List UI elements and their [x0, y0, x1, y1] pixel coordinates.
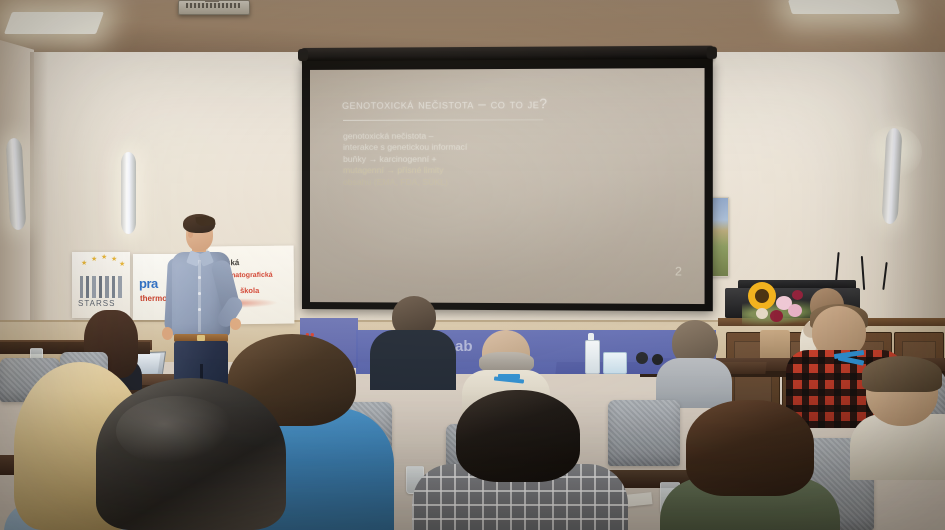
presenter-right-hand: [230, 318, 241, 330]
star-icon-4: ★: [111, 256, 117, 263]
presenter-shirt-button-3: [198, 308, 201, 311]
attendee-fg-dark-hair-highlight: [116, 396, 236, 466]
attendee-fg-far-right-hair: [862, 356, 942, 392]
attendee-fg-olive: [660, 400, 840, 530]
projection-screen: Genotoxická nečistota – co to je? genoto…: [301, 46, 714, 321]
projector-vents: [186, 3, 240, 8]
slide-surface: Genotoxická nečistota – co to je? genoto…: [310, 68, 705, 304]
bloom-burgundy-1: [770, 310, 783, 322]
presenter-shirt-button-2: [198, 292, 201, 295]
tissue-box: [603, 352, 627, 374]
microphone-1: [636, 352, 648, 364]
conference-photo: Genotoxická nečistota – co to je? genoto…: [0, 0, 945, 530]
presenter-left-hand: [162, 327, 173, 340]
attendee-fg-plaid-blazer-hair: [456, 390, 580, 482]
attendee-fg-olive-hair: [686, 400, 814, 496]
presenter-shirt-placket: [198, 260, 201, 332]
starss-wordmark: STARSS: [78, 299, 126, 308]
star-icon-5: ★: [119, 261, 125, 268]
attendee-fg-plaid-blazer: [412, 390, 628, 530]
star-icon-1: ★: [81, 260, 87, 267]
screen-cap-right: [707, 47, 717, 59]
projector-mount: [205, 0, 219, 2]
screen-vignette: [310, 68, 705, 304]
star-icon-3: ★: [101, 254, 107, 261]
ceiling-light-right: [788, 0, 900, 14]
attendee-fg-far-right: [856, 360, 945, 470]
star-icon-2: ★: [91, 256, 97, 263]
sunflower-center: [755, 289, 769, 303]
screen-cap-left: [298, 49, 308, 61]
starss-bar-graphic: [80, 276, 122, 298]
bloom-cream: [756, 308, 768, 319]
wall-sconce-center: [121, 152, 136, 234]
ceiling-light-left: [4, 12, 104, 34]
wall-corner-shadow: [30, 52, 48, 352]
attendee-grey-top: [656, 320, 732, 406]
presenter-shirt-button-1: [198, 276, 201, 279]
attendee-fg-dark-hair: [96, 378, 286, 530]
banner-starss: ★ ★ ★ ★ ★ STARSS: [72, 252, 130, 318]
hand-sanitizer-bottle: [585, 340, 600, 374]
